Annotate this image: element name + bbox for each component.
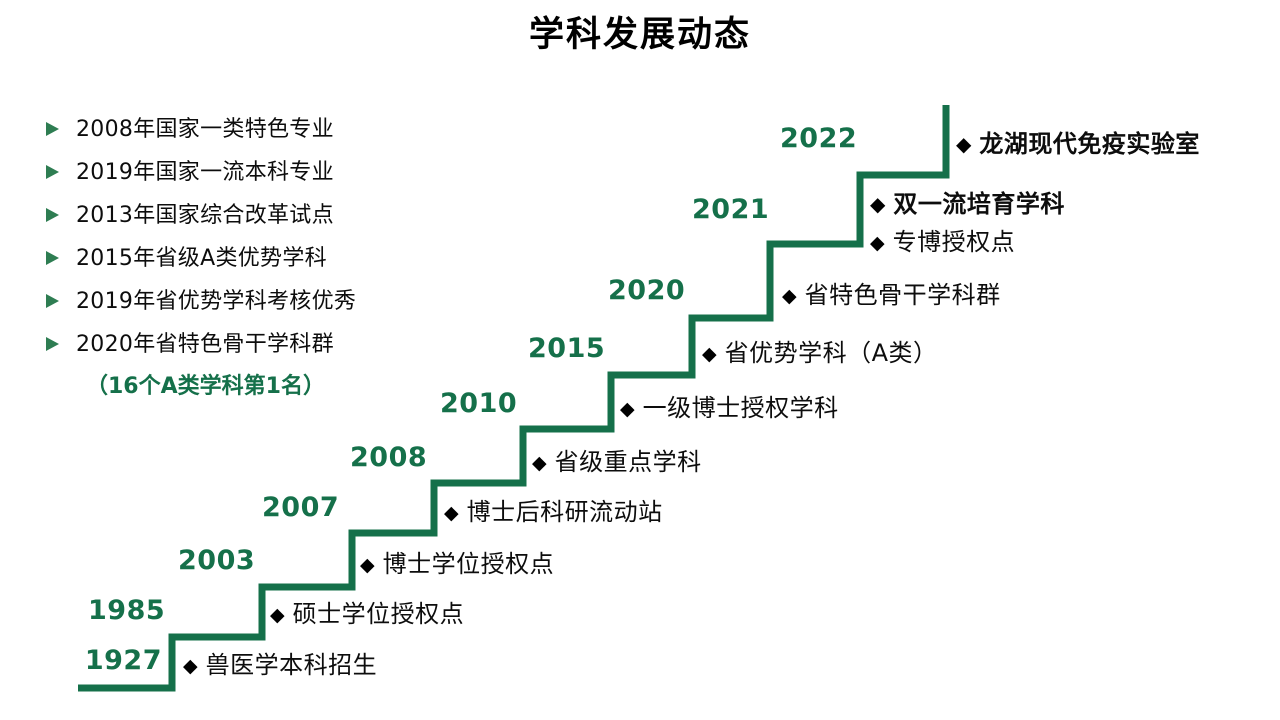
step-item-label: 专博授权点 xyxy=(893,228,1016,256)
triangle-arrow-icon xyxy=(46,108,76,151)
diamond-bullet-icon: ◆ xyxy=(870,232,885,254)
step-item-label: 兽医学本科招生 xyxy=(206,651,378,679)
step-item-group: ◆省级重点学科 xyxy=(532,442,702,477)
step-item-group: ◆省特色骨干学科群 xyxy=(782,275,1001,310)
list-item: 2008年国家一类特色专业 xyxy=(46,108,446,151)
triangle-arrow-icon xyxy=(46,280,76,323)
step-year-label: 2015 xyxy=(528,333,604,364)
step-item: ◆省优势学科（A类） xyxy=(702,333,938,368)
list-item-label: 2020年省特色骨干学科群 xyxy=(76,323,334,366)
step-item-group: ◆双一流培育学科 ◆专博授权点 xyxy=(870,184,1065,257)
step-item-group: ◆硕士学位授权点 xyxy=(270,594,464,629)
step-item-label: 博士学位授权点 xyxy=(383,550,555,578)
list-item: 2019年省优势学科考核优秀 xyxy=(46,280,446,323)
step-year-label: 2007 xyxy=(262,492,338,523)
step-item-label: 省优势学科（A类） xyxy=(725,339,938,367)
step-item-label: 省特色骨干学科群 xyxy=(805,281,1001,309)
list-item-label: 2013年国家综合改革试点 xyxy=(76,194,334,237)
step-year-label: 2008 xyxy=(350,442,426,473)
slide-canvas: 学科发展动态 2008年国家一类特色专业 2019年国家一流本科专业 2013年… xyxy=(0,0,1280,720)
step-item-label: 博士后科研流动站 xyxy=(467,498,663,526)
list-item-label: 2008年国家一类特色专业 xyxy=(76,108,334,151)
step-item-label: 龙湖现代免疫实验室 xyxy=(979,130,1200,158)
triangle-arrow-icon xyxy=(46,151,76,194)
step-item-label: 硕士学位授权点 xyxy=(293,600,465,628)
diamond-bullet-icon: ◆ xyxy=(444,502,459,524)
step-item: ◆龙湖现代免疫实验室 xyxy=(956,124,1200,159)
list-item-label: 2015年省级A类优势学科 xyxy=(76,237,327,280)
step-year-label: 2021 xyxy=(692,194,768,225)
list-item: 2019年国家一流本科专业 xyxy=(46,151,446,194)
step-year-label: 2022 xyxy=(780,123,856,154)
step-item: ◆硕士学位授权点 xyxy=(270,594,464,629)
step-item-label: 双一流培育学科 xyxy=(893,190,1065,218)
step-item-group: ◆一级博士授权学科 xyxy=(620,388,839,423)
step-item-group: ◆省优势学科（A类） xyxy=(702,333,938,368)
list-note: （16个A类学科第1名） xyxy=(46,368,446,400)
step-item: ◆省级重点学科 xyxy=(532,442,702,477)
diamond-bullet-icon: ◆ xyxy=(782,285,797,307)
diamond-bullet-icon: ◆ xyxy=(702,343,717,365)
step-item: ◆一级博士授权学科 xyxy=(620,388,839,423)
step-year-label: 2003 xyxy=(178,545,254,576)
diamond-bullet-icon: ◆ xyxy=(620,398,635,420)
step-item-group: ◆兽医学本科招生 xyxy=(183,645,377,680)
step-item: ◆双一流培育学科 xyxy=(870,184,1065,219)
step-year-label: 2020 xyxy=(608,275,684,306)
achievements-list: 2008年国家一类特色专业 2019年国家一流本科专业 2013年国家综合改革试… xyxy=(46,108,446,400)
list-item-label: 2019年省优势学科考核优秀 xyxy=(76,280,356,323)
list-item: 2013年国家综合改革试点 xyxy=(46,194,446,237)
step-year-label: 1927 xyxy=(78,645,162,676)
step-item: ◆专博授权点 xyxy=(870,222,1065,257)
step-item: ◆兽医学本科招生 xyxy=(183,645,377,680)
step-item-group: ◆龙湖现代免疫实验室 xyxy=(956,124,1200,159)
step-item: ◆博士学位授权点 xyxy=(360,544,554,579)
step-item-label: 一级博士授权学科 xyxy=(643,394,839,422)
diamond-bullet-icon: ◆ xyxy=(183,655,198,677)
list-item: 2020年省特色骨干学科群 xyxy=(46,323,446,366)
diamond-bullet-icon: ◆ xyxy=(956,132,971,156)
step-item-group: ◆博士后科研流动站 xyxy=(444,492,663,527)
step-item: ◆省特色骨干学科群 xyxy=(782,275,1001,310)
triangle-arrow-icon xyxy=(46,194,76,237)
page-title: 学科发展动态 xyxy=(0,14,1280,56)
list-item: 2015年省级A类优势学科 xyxy=(46,237,446,280)
list-item-label: 2019年国家一流本科专业 xyxy=(76,151,334,194)
diamond-bullet-icon: ◆ xyxy=(870,192,885,216)
step-item-label: 省级重点学科 xyxy=(555,448,702,476)
step-year-label: 2010 xyxy=(440,388,516,419)
step-year-label: 1985 xyxy=(88,595,164,626)
diamond-bullet-icon: ◆ xyxy=(532,452,547,474)
diamond-bullet-icon: ◆ xyxy=(270,604,285,626)
step-item-group: ◆博士学位授权点 xyxy=(360,544,554,579)
step-item: ◆博士后科研流动站 xyxy=(444,492,663,527)
triangle-arrow-icon xyxy=(46,323,76,366)
triangle-arrow-icon xyxy=(46,237,76,280)
diamond-bullet-icon: ◆ xyxy=(360,554,375,576)
